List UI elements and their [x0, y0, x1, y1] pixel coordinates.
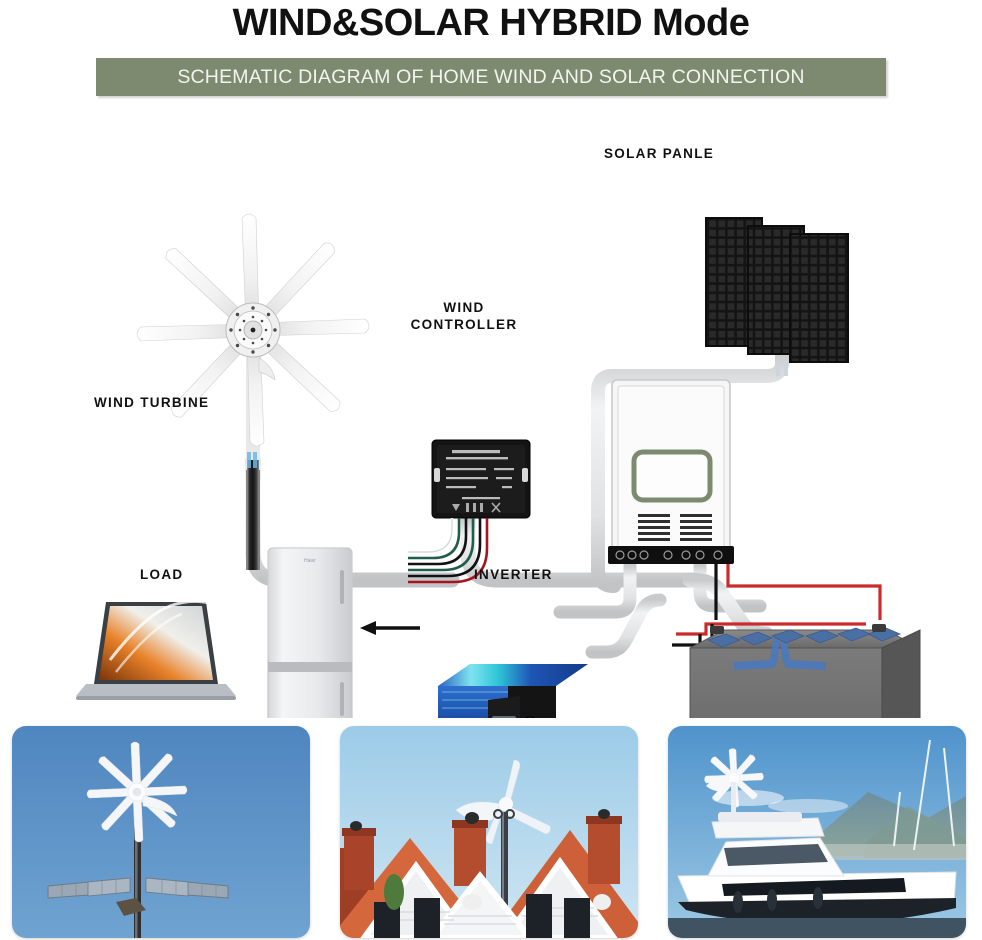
label-wind-controller-line2: CONTROLLER: [411, 317, 518, 332]
label-wind-controller-line1: WIND: [443, 300, 484, 315]
solar-charge-controller-graphic: [584, 380, 734, 580]
label-inverter: INVERTER: [474, 567, 553, 584]
refrigerator-graphic: Haier: [268, 548, 352, 718]
battery-bank-graphic: [690, 624, 920, 718]
subtitle-banner: SCHEMATIC DIAGRAM OF HOME WIND AND SOLAR…: [96, 58, 886, 96]
label-wind-turbine: WIND TURBINE: [94, 395, 209, 412]
schematic-diagram: Haier WIND TURBINE WIND CONTROLLER SOLAR…: [0, 100, 982, 718]
label-load: LOAD: [140, 567, 183, 584]
label-wind-controller: WIND CONTROLLER: [398, 300, 530, 334]
inverter-graphic: [438, 664, 600, 718]
laptop-graphic: [76, 601, 236, 700]
photo-strip: [0, 726, 982, 940]
photo-boat-turbine: [668, 726, 966, 938]
wind-turbine-graphic: [137, 214, 369, 570]
svg-text:Haier: Haier: [304, 558, 316, 564]
subtitle-text: SCHEMATIC DIAGRAM OF HOME WIND AND SOLAR…: [177, 66, 804, 89]
photo-turbine-with-solar: [12, 726, 310, 938]
power-flow-arrow: [360, 621, 420, 635]
page-title: WIND&SOLAR HYBRID Mode: [0, 2, 982, 45]
label-solar-panel: SOLAR PANLE: [604, 146, 714, 163]
photo-rooftop-turbine: [340, 726, 638, 938]
solar-panel-array-graphic: [706, 218, 848, 376]
